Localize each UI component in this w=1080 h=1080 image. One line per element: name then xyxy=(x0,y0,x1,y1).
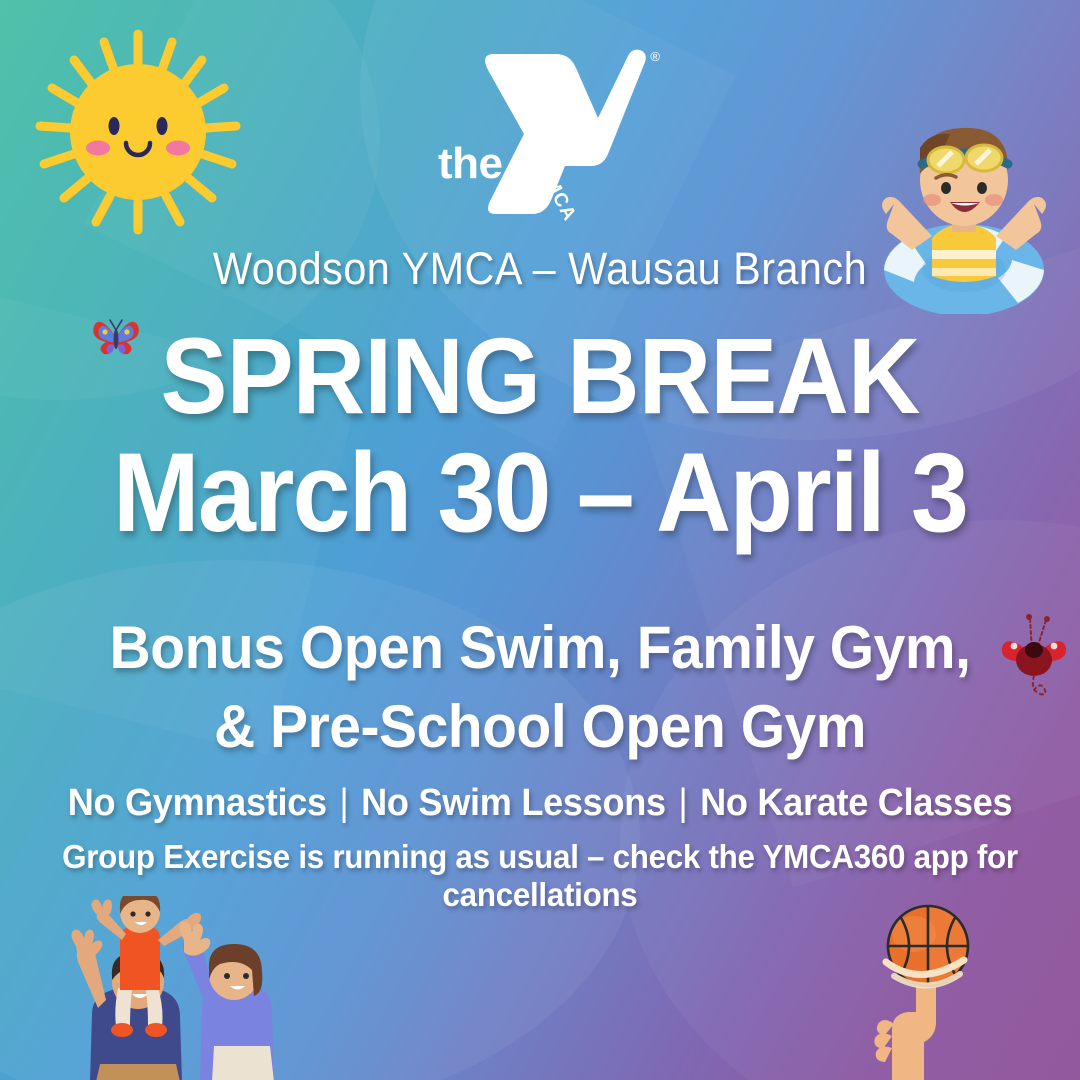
page-title: SPRING BREAK xyxy=(38,322,1042,430)
cancelled-classes-line: No Gymnastics | No Swim Lessons | No Kar… xyxy=(27,782,1053,825)
cancelled-item-karate: No Karate Classes xyxy=(700,782,1012,824)
activities-subhead: Bonus Open Swim, Family Gym, & Pre-Schoo… xyxy=(27,608,1053,766)
date-range: March 30 – April 3 xyxy=(38,437,1042,549)
activities-line-1: Bonus Open Swim, Family Gym, xyxy=(27,608,1053,687)
separator: | xyxy=(337,782,352,824)
separator: | xyxy=(676,782,691,824)
cancelled-item-swim-lessons: No Swim Lessons xyxy=(361,782,666,824)
organization-name: Woodson YMCA – Wausau Branch xyxy=(43,243,1037,295)
family-illustration xyxy=(34,896,286,1080)
basketball-illustration xyxy=(832,902,1008,1080)
spring-break-poster: the ® YMCA xyxy=(0,0,1080,1080)
cancelled-item-gymnastics: No Gymnastics xyxy=(68,782,327,824)
activities-line-2: & Pre-School Open Gym xyxy=(27,687,1053,766)
